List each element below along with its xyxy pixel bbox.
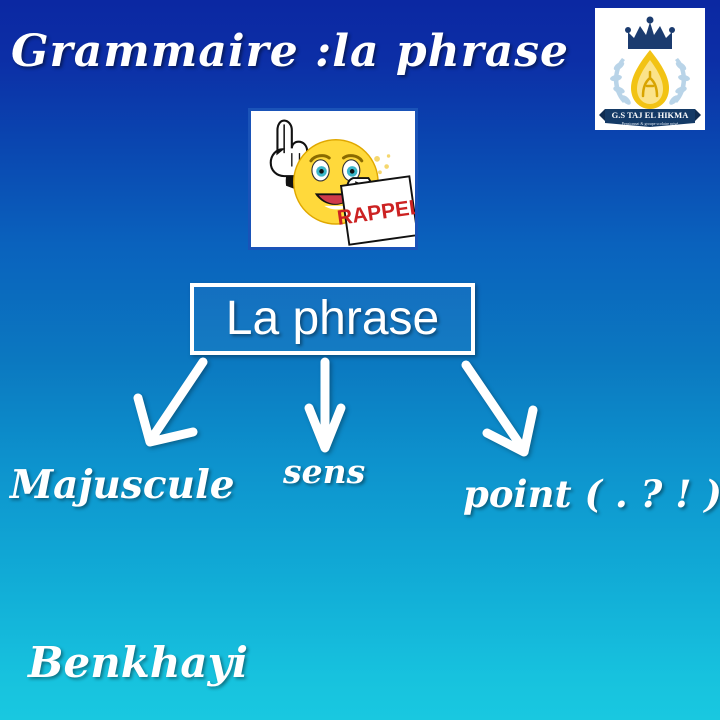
concept-box-label: La phrase: [226, 295, 440, 343]
page-title: Grammaire :la phrase: [0, 26, 580, 77]
grammar-poster: Grammaire :la phrase: [0, 0, 720, 720]
author-signature: Benkhayi: [28, 638, 248, 687]
branch-label-majuscule: Majuscule: [10, 462, 235, 508]
logo-banner-text: G.S TAJ EL HIKMA: [612, 110, 690, 120]
arrow-down: [309, 362, 341, 448]
school-logo: G.S TAJ EL HIKMA Pensionnat & groupe sco…: [595, 8, 705, 130]
logo-banner-subtext: Pensionnat & groupe scolaire privé: [622, 121, 679, 126]
branch-label-sens: sens: [283, 452, 365, 491]
concept-box-la-phrase: La phrase: [190, 283, 475, 355]
arrow-down-right: [466, 365, 533, 452]
rappel-emoji: RAPPEL: [248, 108, 418, 250]
branch-label-point: point ( . ? ! ): [463, 472, 720, 516]
arrow-down-left: [138, 362, 203, 442]
